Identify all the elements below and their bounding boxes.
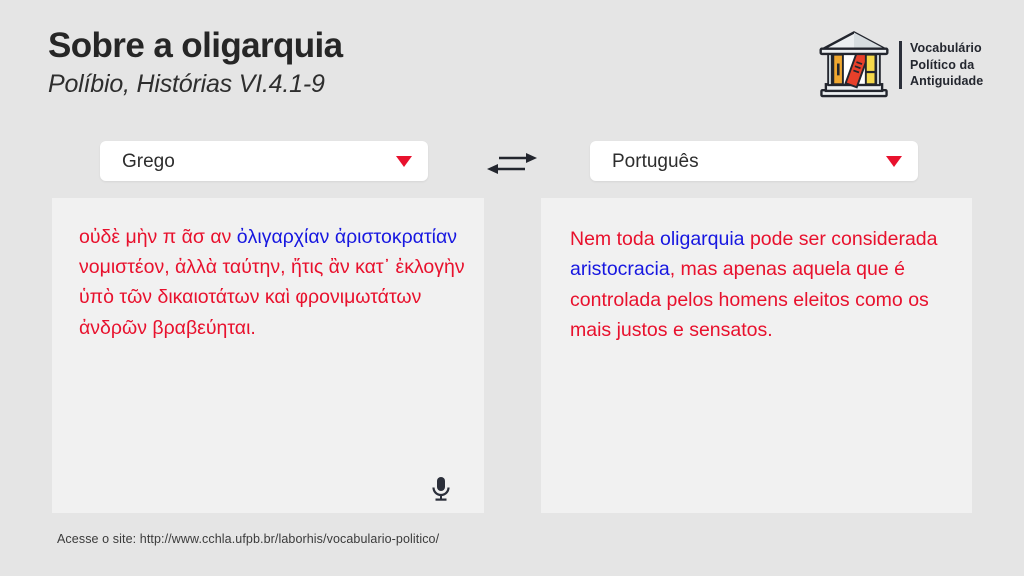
microphone-icon[interactable] <box>430 476 452 502</box>
highlighted-term: aristocracia <box>570 258 670 280</box>
logo-divider <box>899 41 902 89</box>
target-language-label: Português <box>612 152 699 171</box>
source-language-label: Grego <box>122 152 175 171</box>
target-language-select[interactable]: Português <box>590 141 918 181</box>
brand-logo: Vocabulário Político da Antiguidade <box>817 28 983 102</box>
chevron-down-icon[interactable] <box>396 156 412 167</box>
logo-wordmark: Vocabulário Político da Antiguidade <box>910 40 983 91</box>
highlighted-term: oligarquia <box>660 228 745 250</box>
header: Sobre a oligarquia Políbio, Histórias VI… <box>48 26 808 99</box>
logo-line-3: Antiguidade <box>910 73 983 90</box>
slide-root: Sobre a oligarquia Políbio, Histórias VI… <box>0 0 1024 576</box>
source-text-panel[interactable]: οὐδὲ μὴν π ᾶσ αν ὀλιγαρχίαν ἀριστοκρατία… <box>52 198 484 513</box>
logo-line-2: Político da <box>910 57 983 74</box>
target-text: Nem toda oligarquia pode ser considerada… <box>570 224 958 346</box>
text-segment: pode ser considerada <box>745 228 938 250</box>
temple-books-logo-icon <box>817 28 891 102</box>
text-segment: οὐδὲ μὴν π ᾶσ αν <box>79 226 237 248</box>
site-url-footer: Acesse o site: http://www.cchla.ufpb.br/… <box>57 532 439 546</box>
text-segment: Nem toda <box>570 228 660 250</box>
highlighted-term: ὀλιγαρχίαν ἀριστοκρατίαν <box>237 226 457 248</box>
text-segment: νομιστέον, ἀλλὰ ταύτην, ἤτις ἂν κατ᾽ ἐκλ… <box>79 256 465 338</box>
source-text: οὐδὲ μὴν π ᾶσ αν ὀλιγαρχίαν ἀριστοκρατία… <box>79 222 468 343</box>
source-language-select[interactable]: Grego <box>100 141 428 181</box>
language-selector-row: Grego Português <box>0 141 1024 183</box>
page-subtitle: Políbio, Histórias VI.4.1-9 <box>48 69 808 99</box>
target-text-panel[interactable]: Nem toda oligarquia pode ser considerada… <box>541 198 972 513</box>
logo-line-1: Vocabulário <box>910 40 983 57</box>
swap-arrows-icon[interactable] <box>485 150 539 176</box>
chevron-down-icon[interactable] <box>886 156 902 167</box>
page-title: Sobre a oligarquia <box>48 26 808 65</box>
